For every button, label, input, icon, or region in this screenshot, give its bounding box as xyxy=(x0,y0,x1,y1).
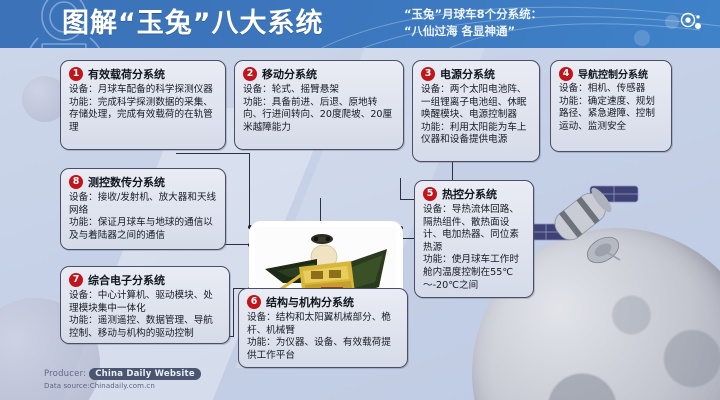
page-title: 图解“玉兔”八大系统 xyxy=(62,4,324,44)
card-6-line-1: 设备：结构和太阳翼机械部分、桅杆、机械臂 xyxy=(247,312,400,337)
card-8-line-2: 功能：保证月球车与地球的通信以及与着陆器之间的通信 xyxy=(69,217,218,242)
card-5-header: 5 热控分系统 xyxy=(423,186,526,202)
card-4-line-1: 设备：相机、传感器 xyxy=(559,83,664,96)
card-7-header: 7 综合电子分系统 xyxy=(69,272,222,288)
card-6-header: 6 结构与机构分系统 xyxy=(247,294,400,310)
footer-credits: Producer: China Daily Website Data sourc… xyxy=(44,368,201,390)
page-subtitle: “玉兔”月球车8个分系统： “八仙过海 各显神通” xyxy=(404,6,542,40)
card-8-header: 8 测控数传分系统 xyxy=(69,174,218,190)
card-2-body: 设备：轮式、摇臂悬架 功能：具备前进、后退、原地转向、行进间转向、20度爬坡、2… xyxy=(243,84,396,134)
card-8-title: 测控数传分系统 xyxy=(88,174,165,190)
subtitle-line-2: “八仙过海 各显神通” xyxy=(404,23,542,40)
card-2-title: 移动分系统 xyxy=(262,66,317,82)
card-8-tracking-telemetry-subsystem[interactable]: 8 测控数传分系统 设备：接收/发射机、放大器和天线网络 功能：保证月球车与地球… xyxy=(60,168,226,250)
card-1-line-2: 功能：完成科学探测数据的采集、存储处理，完成有效载荷的在轨管理 xyxy=(69,97,218,135)
card-4-title: 导航控制分系统 xyxy=(578,66,648,81)
card-6-structure-mechanism-subsystem[interactable]: 6 结构与机构分系统 设备：结构和太阳翼机械部分、桅杆、机械臂 功能：为仪器、设… xyxy=(238,288,408,368)
card-4-body: 设备：相机、传感器 功能：确定速度、规划路径、紧急避障、控制运动、监测安全 xyxy=(559,83,664,133)
card-5-body: 设备：导热流体回路、隔热组件、散热面设计、电加热器、同位素热源 功能：使月球车工… xyxy=(423,204,526,292)
card-7-body: 设备：中心计算机、驱动模块、处理模块集中一体化 功能：遥测遥控、数据管理、导航控… xyxy=(69,290,222,340)
card-3-title: 电源分系统 xyxy=(440,66,495,82)
card-8-number: 8 xyxy=(69,175,83,189)
card-6-body: 设备：结构和太阳翼机械部分、桅杆、机械臂 功能：为仪器、设备、有效载荷提供工作平… xyxy=(247,312,400,362)
infographic-root: 图解“玉兔”八大系统 “玉兔”月球车8个分系统： “八仙过海 各显神通” xyxy=(0,0,720,400)
card-5-line-1: 设备：导热流体回路、隔热组件、散热面设计、电加热器、同位素热源 xyxy=(423,204,526,254)
card-5-thermal-control-subsystem[interactable]: 5 热控分系统 设备：导热流体回路、隔热组件、散热面设计、电加热器、同位素热源 … xyxy=(414,180,534,298)
card-1-line-1: 设备：月球车配备的科学探测仪器 xyxy=(69,84,218,97)
card-5-title: 热控分系统 xyxy=(442,186,497,202)
card-3-header: 3 电源分系统 xyxy=(421,66,532,82)
footer-producer-row: Producer: China Daily Website xyxy=(44,368,201,380)
card-7-title: 综合电子分系统 xyxy=(88,272,165,288)
card-2-mobility-subsystem[interactable]: 2 移动分系统 设备：轮式、摇臂悬架 功能：具备前进、后退、原地转向、行进间转向… xyxy=(234,60,404,150)
card-4-navigation-subsystem[interactable]: 4 导航控制分系统 设备：相机、传感器 功能：确定速度、规划路径、紧急避障、控制… xyxy=(550,60,672,152)
card-3-number: 3 xyxy=(421,67,435,81)
page-body: “玉兔”月球车 1 有效载荷分系统 设备：月球车配备的科学探测仪器 功能：完成科… xyxy=(0,48,720,400)
card-6-line-2: 功能：为仪器、设备、有效载荷提供工作平台 xyxy=(247,337,400,362)
card-5-line-2: 功能：使月球车工作时舱内温度控制在55℃～-20℃之间 xyxy=(423,254,526,292)
footer-data-source: Data source:Chinadaily.com.cn xyxy=(44,382,201,390)
card-2-line-2: 功能：具备前进、后退、原地转向、行进间转向、20度爬坡、20厘米越障能力 xyxy=(243,97,396,135)
card-1-body: 设备：月球车配备的科学探测仪器 功能：完成科学探测数据的采集、存储处理，完成有效… xyxy=(69,84,218,134)
card-2-header: 2 移动分系统 xyxy=(243,66,396,82)
card-7-number: 7 xyxy=(69,273,83,287)
card-7-avionics-subsystem[interactable]: 7 综合电子分系统 设备：中心计算机、驱动模块、处理模块集中一体化 功能：遥测遥… xyxy=(60,266,230,344)
card-4-header: 4 导航控制分系统 xyxy=(559,66,664,81)
card-8-body: 设备：接收/发射机、放大器和天线网络 功能：保证月球车与地球的通信以及与着陆器之… xyxy=(69,192,218,242)
target-dot-icon xyxy=(680,12,702,36)
card-5-number: 5 xyxy=(423,187,437,201)
card-3-line-1: 设备：两个太阳电池阵、一组锂离子电池组、休眠唤醒模块、电源控制器 xyxy=(421,84,532,122)
card-2-number: 2 xyxy=(243,67,257,81)
card-4-number: 4 xyxy=(559,67,573,81)
card-6-number: 6 xyxy=(247,295,261,309)
card-4-line-2: 功能：确定速度、规划路径、紧急避障、控制运动、监测安全 xyxy=(559,96,664,134)
card-1-header: 1 有效载荷分系统 xyxy=(69,66,218,82)
card-1-payload-subsystem[interactable]: 1 有效载荷分系统 设备：月球车配备的科学探测仪器 功能：完成科学探测数据的采集… xyxy=(60,60,226,150)
card-3-body: 设备：两个太阳电池阵、一组锂离子电池组、休眠唤醒模块、电源控制器 功能：利用太阳… xyxy=(421,84,532,147)
card-3-power-subsystem[interactable]: 3 电源分系统 设备：两个太阳电池阵、一组锂离子电池组、休眠唤醒模块、电源控制器… xyxy=(412,60,540,162)
footer-producer-label: Producer: xyxy=(44,369,86,379)
card-3-line-2: 功能：利用太阳能为车上仪器和设备提供电源 xyxy=(421,122,532,147)
card-8-line-1: 设备：接收/发射机、放大器和天线网络 xyxy=(69,192,218,217)
card-7-line-1: 设备：中心计算机、驱动模块、处理模块集中一体化 xyxy=(69,290,222,315)
page-header: 图解“玉兔”八大系统 “玉兔”月球车8个分系统： “八仙过海 各显神通” xyxy=(0,0,720,48)
card-1-title: 有效载荷分系统 xyxy=(88,66,165,82)
subtitle-line-1: “玉兔”月球车8个分系统： xyxy=(404,6,542,23)
card-2-line-1: 设备：轮式、摇臂悬架 xyxy=(243,84,396,97)
card-7-line-2: 功能：遥测遥控、数据管理、导航控制、移动与机构的驱动控制 xyxy=(69,315,222,340)
card-1-number: 1 xyxy=(69,67,83,81)
card-6-title: 结构与机构分系统 xyxy=(266,294,354,310)
footer-producer-badge: China Daily Website xyxy=(89,368,201,380)
